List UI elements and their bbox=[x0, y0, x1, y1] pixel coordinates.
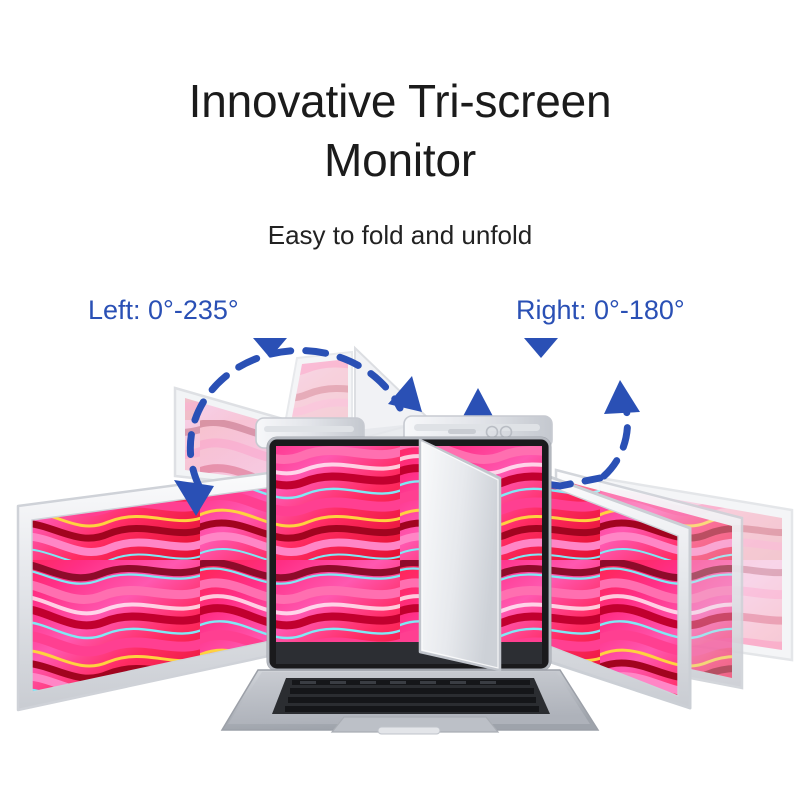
laptop-keyboard bbox=[272, 678, 550, 714]
product-feature-image: Innovative Tri-screen Monitor Easy to fo… bbox=[0, 0, 800, 800]
laptop-front-notch bbox=[378, 727, 440, 734]
page-title: Innovative Tri-screen Monitor bbox=[0, 72, 800, 190]
laptop-lid bbox=[268, 438, 550, 670]
page-subtitle: Easy to fold and unfold bbox=[0, 220, 800, 251]
folded-panel-foreground bbox=[420, 440, 500, 670]
product-illustration-svg bbox=[0, 280, 800, 740]
product-illustration bbox=[0, 280, 800, 740]
laptop-base bbox=[222, 670, 598, 734]
